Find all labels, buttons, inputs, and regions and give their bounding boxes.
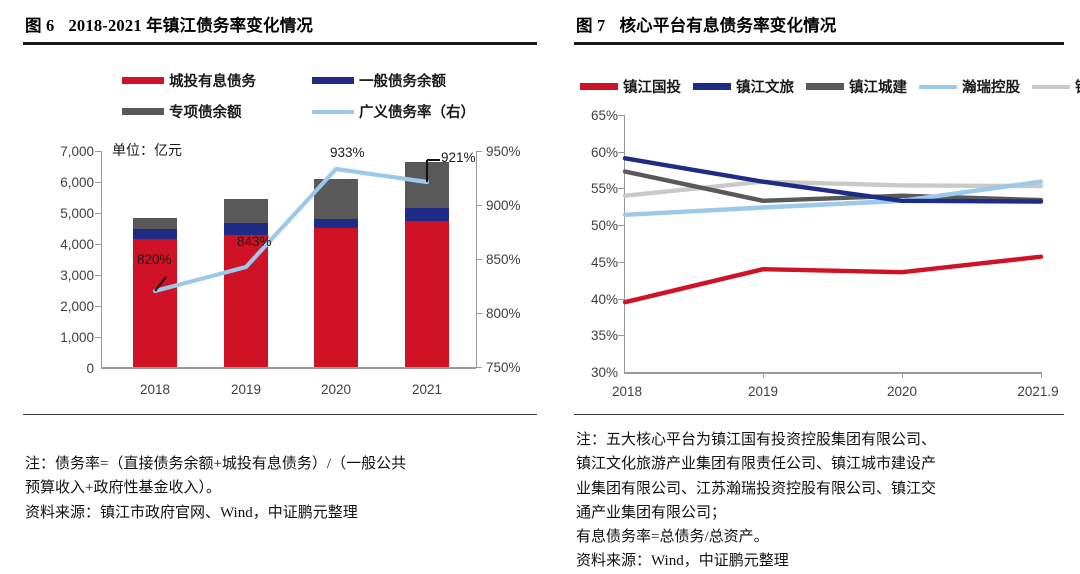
x-tick-2021-9: 2021.9 bbox=[1008, 384, 1068, 399]
figure-6-chart: 7,000 6,000 5,000 4,000 3,000 2,000 1,00… bbox=[0, 0, 558, 410]
x-tick-2019: 2019 bbox=[739, 384, 787, 399]
figure-7-note-line-1: 注：五大核心平台为镇江国有投资控股集团有限公司、 bbox=[576, 428, 1068, 452]
x-tick-2020: 2020 bbox=[314, 382, 358, 397]
data-label-2021-ratio: 921% bbox=[441, 150, 476, 165]
x-tick-2018: 2018 bbox=[603, 384, 651, 399]
data-label-2018-ratio: 820% bbox=[137, 252, 172, 267]
figure-7-panel: 图 7核心平台有息债务率变化情况 镇江国投 镇江文旅 镇江城建 瀚瑞控股 bbox=[558, 0, 1080, 574]
figure-7-note-line-2: 镇江文化旅游产业集团有限责任公司、镇江城市建设产 bbox=[576, 452, 1068, 476]
data-label-2019-ratio: 843% bbox=[237, 234, 272, 249]
figure-6-note-line-2: 预算收入+政府性基金收入）。 bbox=[25, 476, 535, 500]
figure-7-lines bbox=[558, 0, 1080, 410]
figure-7-bottom-rule bbox=[574, 414, 1064, 415]
x-tick-2020: 2020 bbox=[878, 384, 926, 399]
figure-7-chart: 65% 60% 55% 50% 45% 40% 35% 30% bbox=[558, 0, 1080, 410]
figure-7-notes: 注：五大核心平台为镇江国有投资控股集团有限公司、 镇江文化旅游产业集团有限责任公… bbox=[576, 428, 1068, 574]
x-tick-2018: 2018 bbox=[133, 382, 177, 397]
broad-debt-ratio-line bbox=[0, 0, 558, 410]
report-figure-page: 图 62018-2021 年镇江债务率变化情况 城投有息债务 一般债务余额 专项… bbox=[0, 0, 1080, 574]
figure-7-note-line-6: 资料来源：Wind，中证鹏元整理 bbox=[576, 549, 1068, 573]
figure-6-panel: 图 62018-2021 年镇江债务率变化情况 城投有息债务 一般债务余额 专项… bbox=[0, 0, 558, 574]
figure-7-note-line-5: 有息债务率=总债务/总资产。 bbox=[576, 525, 1068, 549]
figure-6-bottom-rule bbox=[23, 414, 537, 415]
x-tick-2019: 2019 bbox=[224, 382, 268, 397]
figure-6-note-line-1: 注：债务率=（直接债务余额+城投有息债务）/（一般公共 bbox=[25, 452, 535, 476]
figure-7-note-line-3: 业集团有限公司、江苏瀚瑞投资控股有限公司、镇江交 bbox=[576, 477, 1068, 501]
figure-7-note-line-4: 通产业集团有限公司； bbox=[576, 501, 1068, 525]
figure-6-notes: 注：债务率=（直接债务余额+城投有息债务）/（一般公共 预算收入+政府性基金收入… bbox=[25, 452, 535, 525]
figure-6-note-line-3: 资料来源：镇江市政府官网、Wind，中证鹏元整理 bbox=[25, 501, 535, 525]
data-label-2020-ratio: 933% bbox=[330, 145, 365, 160]
line-zj-wenlv bbox=[625, 158, 1041, 201]
line-zj-guotou bbox=[625, 257, 1041, 303]
x-tick-2021: 2021 bbox=[405, 382, 449, 397]
